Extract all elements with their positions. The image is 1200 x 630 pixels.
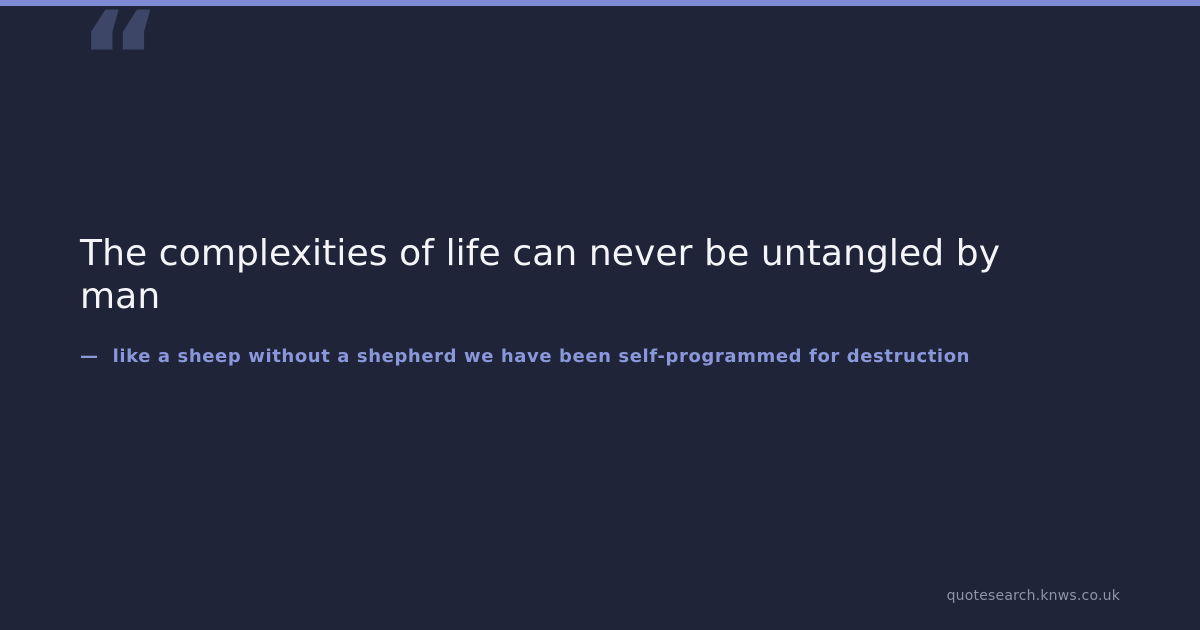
attribution: —like a sheep without a shepherd we have… xyxy=(80,345,1200,369)
quote-content: The complexities of life can never be un… xyxy=(80,232,1200,318)
top-accent-bar xyxy=(0,0,1200,6)
attribution-text: like a sheep without a shepherd we have … xyxy=(113,346,970,367)
quote-text: The complexities of life can never be un… xyxy=(80,232,1045,318)
open-quote-icon: “ xyxy=(78,0,160,124)
quote-card: “ The complexities of life can never be … xyxy=(0,0,1200,630)
site-watermark: quotesearch.knws.co.uk xyxy=(947,587,1120,605)
em-dash-separator: — xyxy=(80,345,99,369)
